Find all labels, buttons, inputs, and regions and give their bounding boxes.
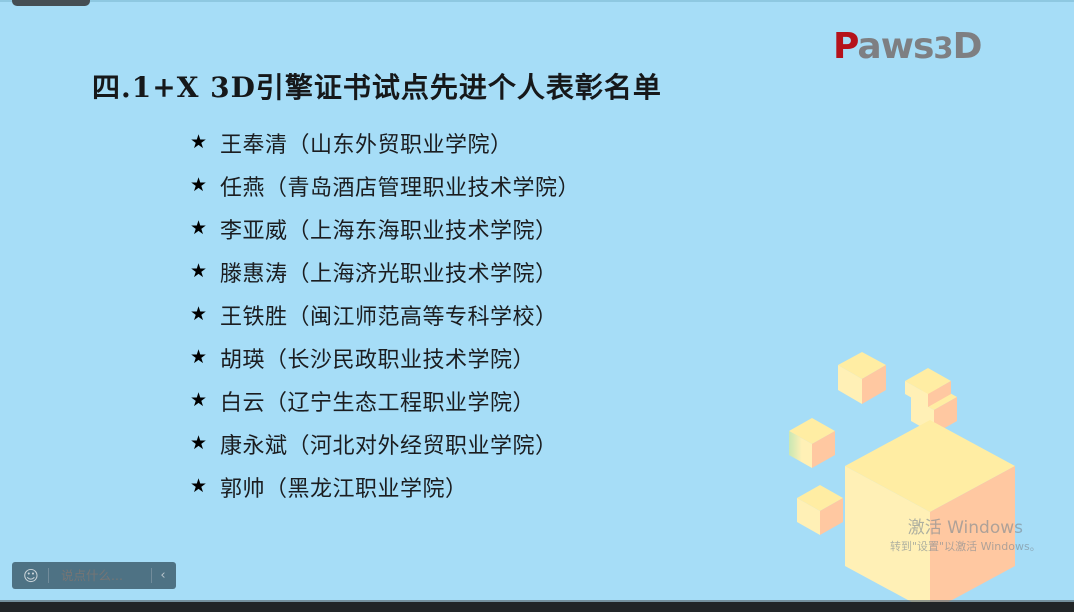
award-entry-text: 郭帅（黑龙江职业学院） — [220, 471, 468, 503]
list-item: ★ 胡瑛（长沙民政职业技术学院） — [190, 336, 580, 379]
os-bottom-strip — [0, 602, 1074, 612]
star-bullet-icon: ★ — [190, 348, 220, 367]
watermark-line-1: 激活 Windows — [890, 518, 1041, 539]
list-item: ★ 滕惠涛（上海济光职业技术学院） — [190, 250, 580, 293]
award-list: ★ 王奉清（山东外贸职业学院） ★ 任燕（青岛酒店管理职业技术学院） ★ 李亚威… — [190, 121, 580, 508]
list-item: ★ 王铁胜（闽江师范高等专科学校） — [190, 293, 580, 336]
list-item: ★ 王奉清（山东外贸职业学院） — [190, 121, 580, 164]
star-bullet-icon: ★ — [190, 133, 220, 152]
logo-letter-d: D — [953, 26, 982, 67]
paws3d-logo: Paws3D — [833, 29, 981, 65]
list-item: ★ 康永斌（河北对外经贸职业学院） — [190, 422, 580, 465]
watermark-line-2: 转到"设置"以激活 Windows。 — [890, 539, 1041, 554]
divider — [48, 568, 49, 583]
list-item: ★ 任燕（青岛酒店管理职业技术学院） — [190, 164, 580, 207]
star-bullet-icon: ★ — [190, 219, 220, 238]
award-entry-text: 李亚威（上海东海职业技术学院） — [220, 213, 558, 245]
logo-digit-3: 3 — [933, 31, 952, 65]
star-bullet-icon: ★ — [190, 305, 220, 324]
cube-large — [845, 420, 1015, 612]
emoji-icon[interactable]: ☺ — [14, 562, 48, 589]
comment-input[interactable] — [49, 568, 151, 583]
award-entry-text: 胡瑛（长沙民政职业技术学院） — [220, 342, 535, 374]
award-entry-text: 任燕（青岛酒店管理职业技术学院） — [220, 170, 580, 202]
cube-nub — [905, 368, 951, 407]
comment-bar[interactable]: ☺ ‹ — [12, 562, 176, 589]
list-item: ★ 李亚威（上海东海职业技术学院） — [190, 207, 580, 250]
award-entry-text: 王铁胜（闽江师范高等专科学校） — [220, 299, 558, 331]
cube-small-d — [797, 485, 843, 535]
chevron-left-icon[interactable]: ‹ — [152, 562, 174, 589]
star-bullet-icon: ★ — [190, 262, 220, 281]
divider — [151, 568, 152, 583]
cube-small-b — [911, 384, 957, 434]
award-entry-text: 滕惠涛（上海济光职业技术学院） — [220, 256, 558, 288]
award-entry-text: 王奉清（山东外贸职业学院） — [220, 127, 513, 159]
star-bullet-icon: ★ — [190, 391, 220, 410]
star-bullet-icon: ★ — [190, 176, 220, 195]
award-entry-text: 白云（辽宁生态工程职业学院） — [220, 385, 535, 417]
star-bullet-icon: ★ — [190, 477, 220, 496]
windows-activation-watermark: 激活 Windows 转到"设置"以激活 Windows。 — [890, 518, 1041, 554]
cube-small-a — [838, 352, 886, 404]
slide-title: 四.1+X 3D引擎证书试点先进个人表彰名单 — [92, 66, 662, 106]
cube-small-c — [789, 418, 835, 468]
list-item: ★ 郭帅（黑龙江职业学院） — [190, 465, 580, 508]
logo-text-aws: aws — [857, 26, 933, 67]
logo-letter-p: P — [833, 26, 857, 67]
award-entry-text: 康永斌（河北对外经贸职业学院） — [220, 428, 558, 460]
window-tab-partial[interactable] — [12, 0, 90, 6]
list-item: ★ 白云（辽宁生态工程职业学院） — [190, 379, 580, 422]
top-edge-line — [0, 0, 1074, 2]
slide-viewer: Paws3D 四.1+X 3D引擎证书试点先进个人表彰名单 ★ 王奉清（山东外贸… — [0, 0, 1074, 612]
star-bullet-icon: ★ — [190, 434, 220, 453]
